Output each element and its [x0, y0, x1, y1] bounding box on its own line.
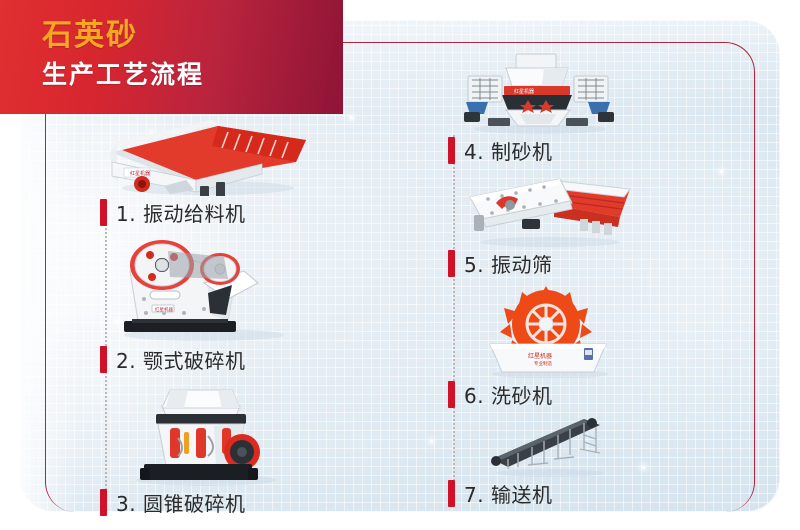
belt-conveyor-icon: [488, 415, 748, 477]
right-column: 红星机器: [448, 52, 748, 508]
sparkle-dot: [430, 440, 433, 443]
banner-title-secondary: 生产工艺流程: [42, 58, 343, 92]
step-3-label-row: 3. 圆锥破碎机: [100, 488, 400, 517]
step-1[interactable]: 红星机器 1. 振动给料机: [100, 118, 400, 227]
marker-bar: [448, 137, 455, 164]
marker-bar: [448, 381, 455, 408]
marker-bar: [448, 480, 455, 507]
step-6-label-row: 6. 洗砂机: [448, 380, 748, 409]
sand-washer-icon: 红星机器 专业制造: [484, 286, 748, 378]
marker-bar: [100, 199, 107, 226]
step-5[interactable]: 5. 振动筛: [448, 175, 748, 278]
cone-crusher-icon: [118, 382, 400, 486]
step-4[interactable]: 红星机器: [448, 52, 748, 165]
vibrating-feeder-icon: 红星机器: [100, 118, 400, 196]
title-banner: 石英砂 生产工艺流程: [0, 0, 343, 114]
process-flow-infographic: 红星机器 1. 振动给料机: [0, 0, 800, 530]
step-5-label-row: 5. 振动筛: [448, 249, 748, 278]
step-2[interactable]: 红星机器 2: [100, 235, 400, 374]
banner-title-primary: 石英砂: [42, 18, 343, 54]
left-column: 红星机器 1. 振动给料机: [100, 118, 400, 517]
step-3[interactable]: 3. 圆锥破碎机: [100, 382, 400, 517]
step-4-label-row: 4. 制砂机: [448, 136, 748, 165]
step-7[interactable]: 7. 输送机: [448, 415, 748, 508]
svg-text:红星机器: 红星机器: [155, 306, 173, 313]
svg-text:红星机器: 红星机器: [528, 352, 552, 360]
step-6[interactable]: 红星机器 专业制造 6. 洗砂机: [448, 286, 748, 409]
step-2-label-row: 2. 颚式破碎机: [100, 345, 400, 374]
step-5-label: 5. 振动筛: [464, 249, 552, 278]
jaw-crusher-icon: 红星机器: [108, 235, 400, 343]
svg-text:红星机器: 红星机器: [514, 88, 534, 95]
step-7-label: 7. 输送机: [464, 479, 552, 508]
step-4-label: 4. 制砂机: [464, 136, 552, 165]
svg-text:专业制造: 专业制造: [534, 360, 552, 367]
marker-bar: [100, 489, 107, 516]
step-6-label: 6. 洗砂机: [464, 380, 552, 409]
marker-bar: [100, 346, 107, 373]
marker-bar: [448, 250, 455, 277]
step-1-label: 1. 振动给料机: [116, 198, 245, 227]
vibrating-screen-icon: [462, 175, 748, 247]
sand-making-machine-icon: 红星机器: [458, 52, 748, 134]
step-2-label: 2. 颚式破碎机: [116, 345, 245, 374]
svg-text:红星机器: 红星机器: [130, 170, 150, 177]
step-7-label-row: 7. 输送机: [448, 479, 748, 508]
step-3-label: 3. 圆锥破碎机: [116, 488, 245, 517]
step-1-label-row: 1. 振动给料机: [100, 198, 400, 227]
